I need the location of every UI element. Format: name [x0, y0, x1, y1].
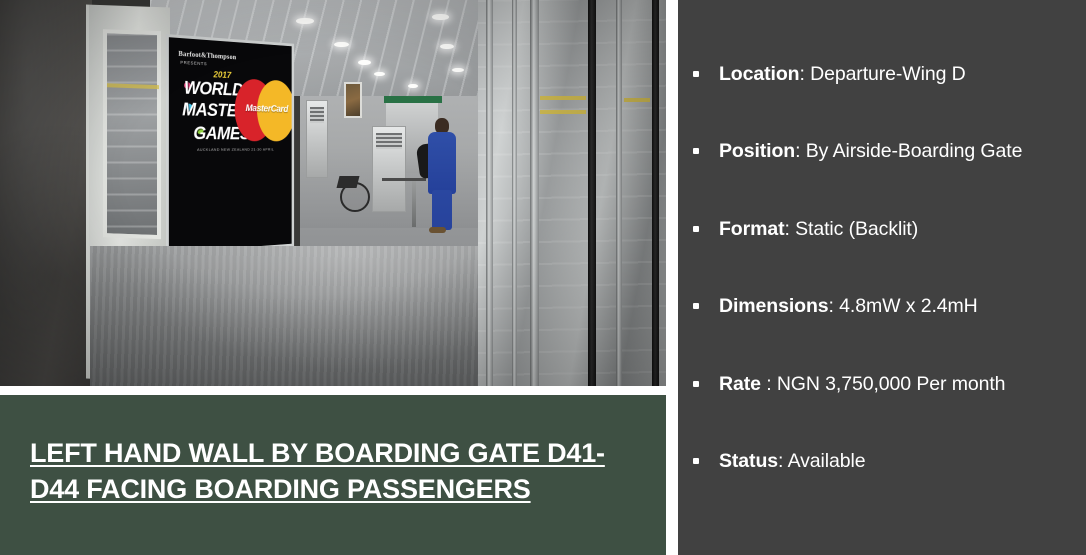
glass-yellow-strip	[540, 96, 586, 100]
detail-value: Static (Backlit)	[795, 218, 918, 240]
passenger-torso	[428, 132, 456, 194]
detail-separator: :	[785, 218, 796, 240]
glass-yellow-strip	[624, 98, 650, 102]
detail-value: NGN 3,750,000 Per month	[777, 373, 1006, 395]
detail-separator: :	[795, 140, 806, 162]
detail-label: Location	[719, 63, 799, 85]
caption-title: LEFT HAND WALL BY BOARDING GATE D41-D44 …	[0, 436, 666, 507]
detail-value: Departure-Wing D	[810, 63, 966, 85]
walking-passenger	[424, 118, 458, 233]
list-item: Format: Static (Backlit)	[693, 217, 1072, 241]
door-glass-pane	[103, 29, 161, 239]
detail-label: Status	[719, 450, 778, 472]
detail-label: Position	[719, 140, 795, 162]
door-mullion	[652, 0, 659, 386]
list-item: Dimensions: 4.8mW x 2.4mH	[693, 294, 1072, 318]
caption-panel: LEFT HAND WALL BY BOARDING GATE D41-D44 …	[0, 395, 666, 555]
door-mullion	[512, 0, 517, 386]
detail-dimensions: Dimensions: 4.8mW x 2.4mH	[719, 294, 978, 318]
detail-value: Available	[788, 450, 866, 472]
detail-value: By Airside-Boarding Gate	[806, 140, 1023, 162]
passenger-legs	[432, 190, 452, 230]
door-mullion	[616, 0, 622, 386]
ceiling-downlight	[334, 42, 349, 47]
detail-location: Location: Departure-Wing D	[719, 62, 966, 86]
detail-separator: :	[799, 63, 810, 85]
door-mullion	[588, 0, 596, 386]
barrier-post	[412, 181, 416, 227]
slide-canvas: Barfoot&Thompson PRESENTS 2017 WORLD MAS…	[0, 0, 1086, 555]
detail-rate: Rate : NGN 3,750,000 Per month	[719, 372, 1005, 396]
ceiling-downlight	[440, 44, 454, 49]
bullet-icon	[693, 381, 699, 387]
list-item: Position: By Airside-Boarding Gate	[693, 139, 1072, 163]
billboard-presents: PRESENTS	[180, 60, 207, 66]
glass-yellow-strip	[540, 110, 586, 114]
detail-label: Format	[719, 218, 785, 240]
bullet-icon	[693, 303, 699, 309]
left-wall	[0, 0, 92, 386]
ceiling-downlight	[432, 14, 449, 20]
bullet-icon	[693, 71, 699, 77]
list-item: Location: Departure-Wing D	[693, 62, 1072, 86]
detail-status: Status: Available	[719, 449, 865, 473]
site-details-list: Location: Departure-Wing D Position: By …	[693, 62, 1072, 473]
ceiling-downlight	[408, 84, 418, 88]
ceiling-downlight	[296, 18, 314, 24]
detail-label: Rate	[719, 373, 766, 395]
detail-value: 4.8mW x 2.4mH	[839, 295, 977, 317]
air-conditioning-unit	[306, 100, 328, 178]
detail-label: Dimensions	[719, 295, 829, 317]
wheelchair	[338, 176, 368, 216]
door-mullion	[486, 0, 493, 386]
foreground-glass-doors	[478, 0, 666, 386]
bullet-icon	[693, 148, 699, 154]
mastercard-logo-icon: MasterCard	[235, 78, 294, 143]
detail-separator: :	[778, 450, 788, 472]
list-item: Rate : NGN 3,750,000 Per month	[693, 372, 1072, 396]
backlit-billboard: Barfoot&Thompson PRESENTS 2017 WORLD MAS…	[166, 34, 294, 256]
detail-format: Format: Static (Backlit)	[719, 217, 918, 241]
queue-barrier	[382, 178, 426, 222]
bullet-icon	[693, 458, 699, 464]
billboard-subtitle: AUCKLAND NEW ZEALAND 21-30 APRIL	[197, 147, 274, 152]
detail-separator: :	[829, 295, 840, 317]
door-mullion	[530, 0, 539, 386]
bullet-icon	[693, 226, 699, 232]
mastercard-wordmark: MasterCard	[238, 103, 294, 115]
ceiling-downlight	[374, 72, 385, 76]
site-photograph: Barfoot&Thompson PRESENTS 2017 WORLD MAS…	[0, 0, 666, 386]
site-details-panel: Location: Departure-Wing D Position: By …	[678, 0, 1086, 555]
ceiling-downlight	[358, 60, 371, 65]
list-item: Status: Available	[693, 449, 1072, 473]
detail-position: Position: By Airside-Boarding Gate	[719, 139, 1022, 163]
wheelchair-frame	[337, 176, 360, 188]
framed-picture	[344, 82, 362, 118]
detail-separator: :	[766, 373, 777, 395]
ceiling-downlight	[452, 68, 464, 72]
passenger-shoe	[429, 227, 446, 233]
